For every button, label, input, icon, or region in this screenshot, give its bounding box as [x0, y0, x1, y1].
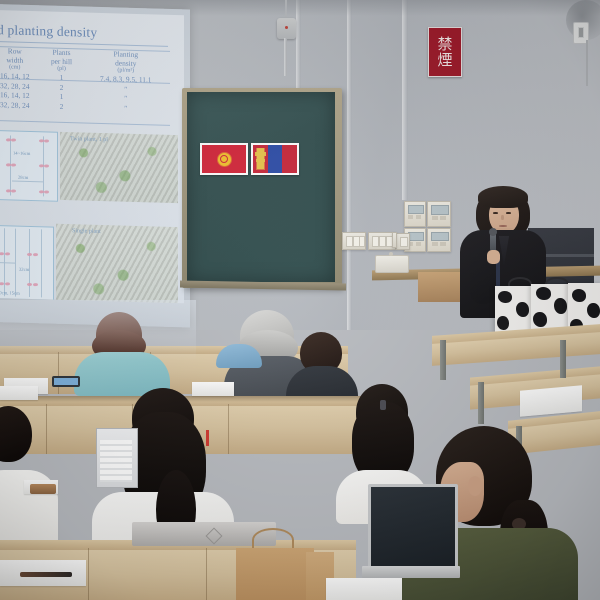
diagram-label-h: 28cm — [18, 175, 28, 180]
diagram-label-v: 14~16cm — [13, 151, 30, 156]
sensor-stem — [284, 38, 287, 76]
phone-screen — [54, 378, 78, 385]
photo-caption-lower: Single plant — [72, 228, 101, 235]
diagram-dim-line — [0, 262, 15, 263]
soyombo-mid — [255, 152, 266, 155]
desk-divider — [46, 404, 47, 454]
mongolia-stripe-center — [268, 145, 283, 173]
panel-lcd — [431, 232, 449, 241]
speaker-hair-front — [478, 186, 528, 208]
panel-lcd — [408, 205, 424, 214]
table-rule-bottom — [0, 120, 170, 126]
panel-button[interactable] — [440, 216, 446, 220]
light-switch[interactable] — [346, 236, 353, 247]
no-smoking-char-1: 禁 — [437, 37, 452, 52]
diagram-line — [29, 229, 30, 297]
kyrgyzstan-flag — [200, 143, 248, 175]
no-smoking-char-2: 煙 — [437, 53, 452, 68]
smartphone[interactable] — [52, 376, 80, 387]
planting-diagram-upper: 14~16cm 28cm — [0, 130, 58, 202]
laptop-screen[interactable] — [368, 484, 458, 576]
wall-seam-3 — [402, 0, 408, 200]
blackboard — [187, 92, 335, 282]
pen[interactable] — [20, 572, 72, 577]
light-switch-panel-3[interactable] — [396, 233, 410, 250]
diagram-label-lower-h: 30cm, 15cm — [0, 290, 20, 296]
panel-button[interactable] — [416, 215, 421, 219]
planting-density-table: Row width (cm) Plants per hill (pl) Plan… — [0, 46, 170, 115]
cow-spot — [497, 316, 509, 330]
desk-leg — [478, 382, 484, 424]
cow-spot — [498, 291, 512, 303]
speaker-eye-right — [506, 212, 511, 214]
speaker-mouth — [499, 225, 507, 227]
desk-leg — [560, 340, 566, 378]
light-switch[interactable] — [372, 236, 379, 247]
light-switch[interactable] — [359, 236, 365, 247]
diagram-line — [15, 229, 16, 297]
plant-dot — [44, 190, 49, 193]
ac-control-panel-4[interactable] — [427, 228, 451, 252]
slide-title: nd planting density — [0, 22, 160, 43]
laptop-keyboard[interactable] — [362, 566, 460, 578]
desk-divider — [206, 548, 207, 600]
cell-row-width: 32, 28, 24 — [0, 100, 42, 111]
soyombo-top — [257, 148, 265, 150]
speaker-nose — [501, 215, 504, 220]
lecture-hall-photo: 禁 煙 nd planting density Row width (cm) P… — [0, 0, 600, 600]
photo-caption-upper: Twin plant, 1 pl — [70, 136, 108, 143]
cell-density: ″ — [82, 103, 170, 115]
diagram-dim-line — [12, 181, 43, 183]
plant-dot — [5, 282, 10, 285]
outlet-cord — [586, 40, 588, 86]
panel-button[interactable] — [440, 242, 446, 246]
plant-dot — [27, 283, 32, 286]
cow-spot — [516, 302, 529, 317]
person-c1-ear — [468, 476, 482, 496]
header-planting-density: Planting density (pl/m²) — [82, 48, 170, 76]
diagram-label-lower-v: 32cm — [19, 267, 29, 272]
notes-paper-2[interactable] — [0, 386, 38, 400]
person-b3-hairclip — [380, 400, 386, 410]
plant-dot — [5, 252, 10, 255]
plant-dot — [11, 189, 16, 192]
document-sheet-2[interactable] — [326, 578, 402, 600]
diagram-line — [41, 229, 42, 297]
presentation-slide: nd planting density Row width (cm) Plant… — [0, 10, 184, 303]
speaker-hand — [487, 250, 500, 264]
wall-seam-2 — [347, 0, 352, 330]
plant-dot — [11, 163, 16, 166]
projector-control-box[interactable] — [375, 255, 409, 273]
panel-button[interactable] — [432, 242, 438, 246]
wall-panel-left[interactable] — [392, 232, 397, 248]
cell-plants: 2 — [42, 102, 82, 113]
notes-paper-3[interactable] — [192, 382, 234, 396]
plant-dot — [11, 138, 16, 141]
light-switch[interactable] — [400, 237, 408, 247]
panel-button[interactable] — [432, 216, 438, 220]
plant-dot — [33, 283, 38, 286]
desk-shadow — [0, 396, 396, 402]
planting-diagram-lower: 32cm 30cm, 15cm — [0, 225, 54, 301]
cow-spot — [533, 312, 547, 327]
ac-control-panel-2[interactable] — [427, 201, 451, 227]
cow-spot — [554, 298, 567, 314]
plant-dot — [44, 139, 49, 142]
header-row-width: Row width (cm) — [0, 46, 42, 73]
field-photo-lower: Single plant — [56, 224, 178, 304]
no-smoking-sign: 禁 煙 — [428, 27, 462, 77]
cow-spot — [536, 287, 551, 300]
panel-lcd — [431, 205, 449, 215]
mongolia-stripe-right — [282, 145, 297, 173]
monitor-accent — [206, 430, 209, 446]
plant-dot — [27, 253, 32, 256]
mongolia-flag — [251, 143, 299, 175]
cow-spot — [572, 289, 586, 302]
desk-item-brown — [30, 484, 56, 494]
desk-divider — [58, 352, 59, 394]
light-switch-panel-1[interactable] — [342, 232, 366, 250]
desk-divider — [228, 404, 229, 454]
cow-spot — [587, 303, 600, 318]
desk-divider — [88, 548, 89, 600]
handout-paper[interactable] — [520, 385, 582, 416]
desk-leg — [440, 340, 446, 380]
plant-dot — [33, 253, 38, 256]
panel-button[interactable] — [416, 242, 421, 246]
light-switch[interactable] — [379, 236, 386, 247]
monitor-content — [100, 440, 132, 482]
speaker-eye-left — [493, 212, 498, 214]
panel-lcd — [408, 232, 424, 241]
kyrgyzstan-sun-icon — [218, 153, 231, 166]
plant-dot — [44, 164, 49, 167]
header-plants-per-hill: Plants per hill (pl) — [42, 47, 82, 73]
panel-button[interactable] — [408, 215, 413, 219]
motion-sensor-icon — [277, 18, 296, 39]
kraft-shopping-bag — [236, 548, 314, 600]
ac-control-panel-1[interactable] — [404, 201, 426, 227]
field-photo-upper: Twin plant, 1 pl — [60, 132, 178, 203]
soyombo-low — [256, 159, 266, 162]
sensor-pole-top — [285, 0, 287, 19]
